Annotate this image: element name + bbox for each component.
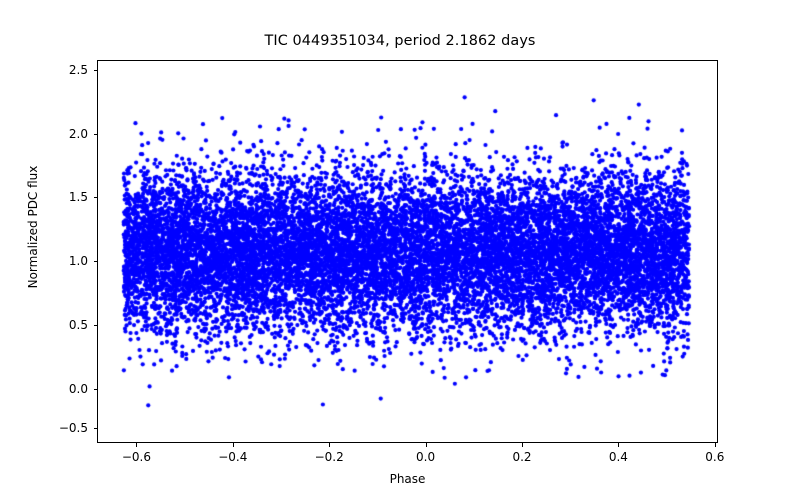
- ytick-label-2.0: 2.0: [33, 127, 88, 141]
- ytick-mark-2.0: [94, 134, 98, 135]
- xtick-mark-0.6: [715, 443, 716, 447]
- xtick-mark--0.4: [233, 443, 234, 447]
- plot-axes-area: [97, 60, 718, 443]
- xtick-label--0.4: −0.4: [203, 450, 263, 464]
- ytick-mark-0.0: [94, 389, 98, 390]
- ytick-label-1.0: 1.0: [33, 254, 88, 268]
- xtick-label--0.6: −0.6: [106, 450, 166, 464]
- ytick-label-0.0: 0.0: [33, 382, 88, 396]
- ytick-mark-0.5: [94, 325, 98, 326]
- ytick-mark--0.5: [94, 428, 98, 429]
- ytick-label--0.5: −0.5: [28, 421, 88, 435]
- xtick-label-0.0: 0.0: [396, 450, 456, 464]
- xtick-mark-0.2: [522, 443, 523, 447]
- figure-canvas: TIC 0449351034, period 2.1862 days 2.5 2…: [0, 0, 800, 500]
- ytick-label-0.5: 0.5: [33, 318, 88, 332]
- ytick-label-2.5: 2.5: [33, 63, 88, 77]
- xtick-label-0.2: 0.2: [492, 450, 552, 464]
- y-axis-label: Normalized PDC flux: [26, 57, 40, 397]
- xtick-mark--0.2: [329, 443, 330, 447]
- ytick-mark-1.0: [94, 261, 98, 262]
- xtick-mark--0.6: [136, 443, 137, 447]
- xtick-label-0.6: 0.6: [685, 450, 745, 464]
- xtick-mark-0.4: [618, 443, 619, 447]
- ytick-mark-1.5: [94, 197, 98, 198]
- xtick-label--0.2: −0.2: [299, 450, 359, 464]
- ytick-label-1.5: 1.5: [33, 190, 88, 204]
- chart-title: TIC 0449351034, period 2.1862 days: [0, 33, 800, 49]
- scatter-points-layer: [98, 61, 717, 442]
- xtick-label-0.4: 0.4: [588, 450, 648, 464]
- x-axis-label: Phase: [97, 472, 718, 486]
- ytick-mark-2.5: [94, 70, 98, 71]
- xtick-mark-0.0: [426, 443, 427, 447]
